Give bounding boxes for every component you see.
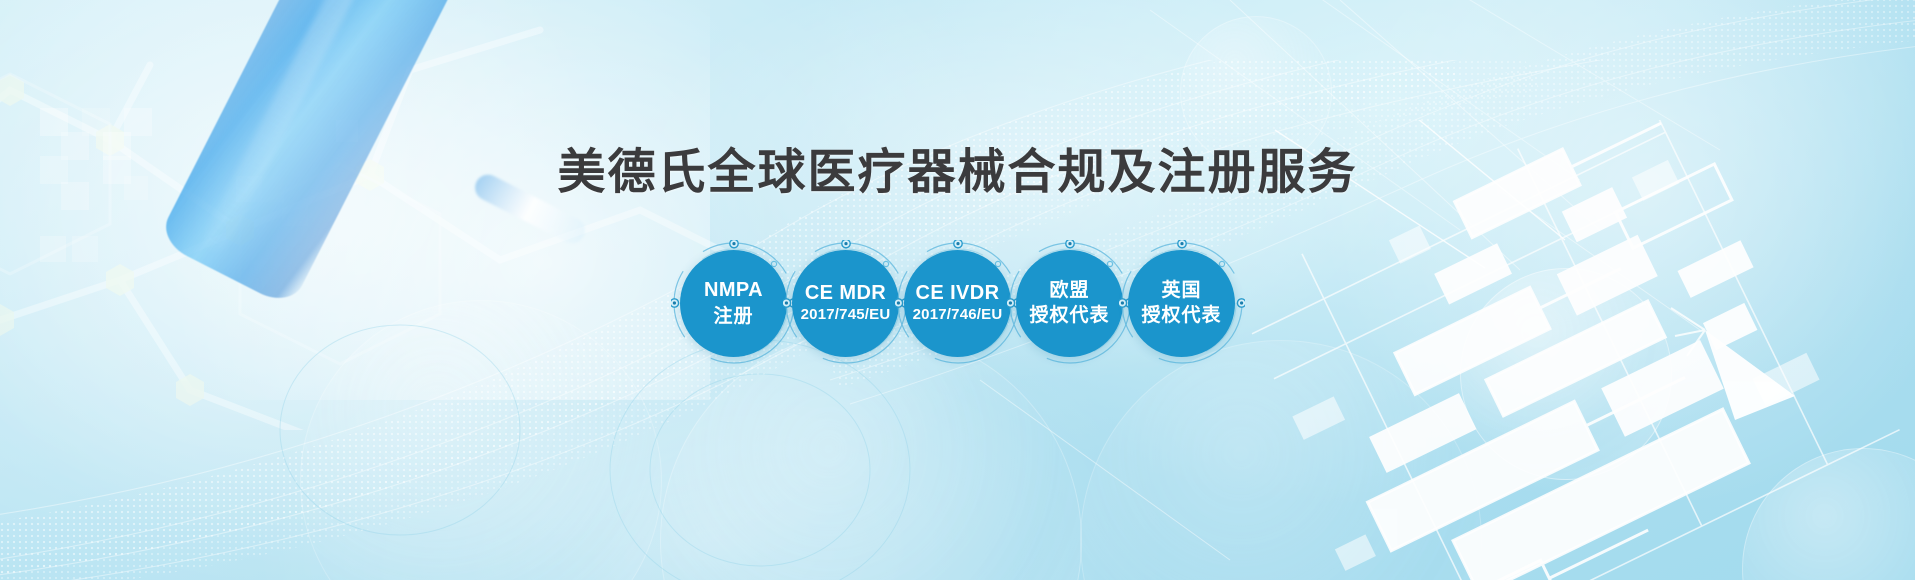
badge-line2: 2017/746/EU — [913, 307, 1003, 324]
badge-line1: NMPA — [704, 279, 763, 301]
badge-eu-rep[interactable]: 欧盟 授权代表 — [1015, 248, 1125, 358]
badge-ce-mdr[interactable]: CE MDR 2017/745/EU — [791, 248, 901, 358]
badge-circle[interactable]: CE MDR 2017/745/EU — [792, 250, 899, 357]
badge-circle[interactable]: NMPA 注册 — [680, 250, 787, 357]
banner-root: 美德氏全球医疗器械合规及注册服务 NMPA 注册 — [0, 0, 1915, 580]
badge-circle[interactable]: 英国 授权代表 — [1128, 250, 1235, 357]
bubble-sphere — [660, 330, 1082, 580]
badge-nmpa[interactable]: NMPA 注册 — [679, 248, 789, 358]
badge-uk-rep[interactable]: 英国 授权代表 — [1127, 248, 1237, 358]
page-title: 美德氏全球医疗器械合规及注册服务 — [0, 132, 1915, 202]
badge-line1: CE IVDR — [916, 282, 1000, 304]
badge-circle[interactable]: 欧盟 授权代表 — [1016, 250, 1123, 357]
syringe-highlight — [199, 0, 390, 256]
bubble-sphere — [1080, 340, 1482, 580]
grid-square — [282, 200, 308, 226]
bubble-sphere — [1742, 448, 1915, 580]
badge-line2: 授权代表 — [1141, 305, 1221, 326]
badge-line1: 英国 — [1161, 280, 1201, 301]
badge-line2: 2017/745/EU — [801, 307, 891, 324]
badge-line1: 欧盟 — [1049, 280, 1089, 301]
badge-line1: CE MDR — [805, 282, 886, 304]
badge-ce-ivdr[interactable]: CE IVDR 2017/746/EU — [903, 248, 1013, 358]
badge-row: NMPA 注册 CE MDR 2017/745/EU — [0, 248, 1915, 358]
badge-line2: 注册 — [713, 306, 753, 327]
badge-line2: 授权代表 — [1029, 305, 1109, 326]
badge-circle[interactable]: CE IVDR 2017/746/EU — [904, 250, 1011, 357]
